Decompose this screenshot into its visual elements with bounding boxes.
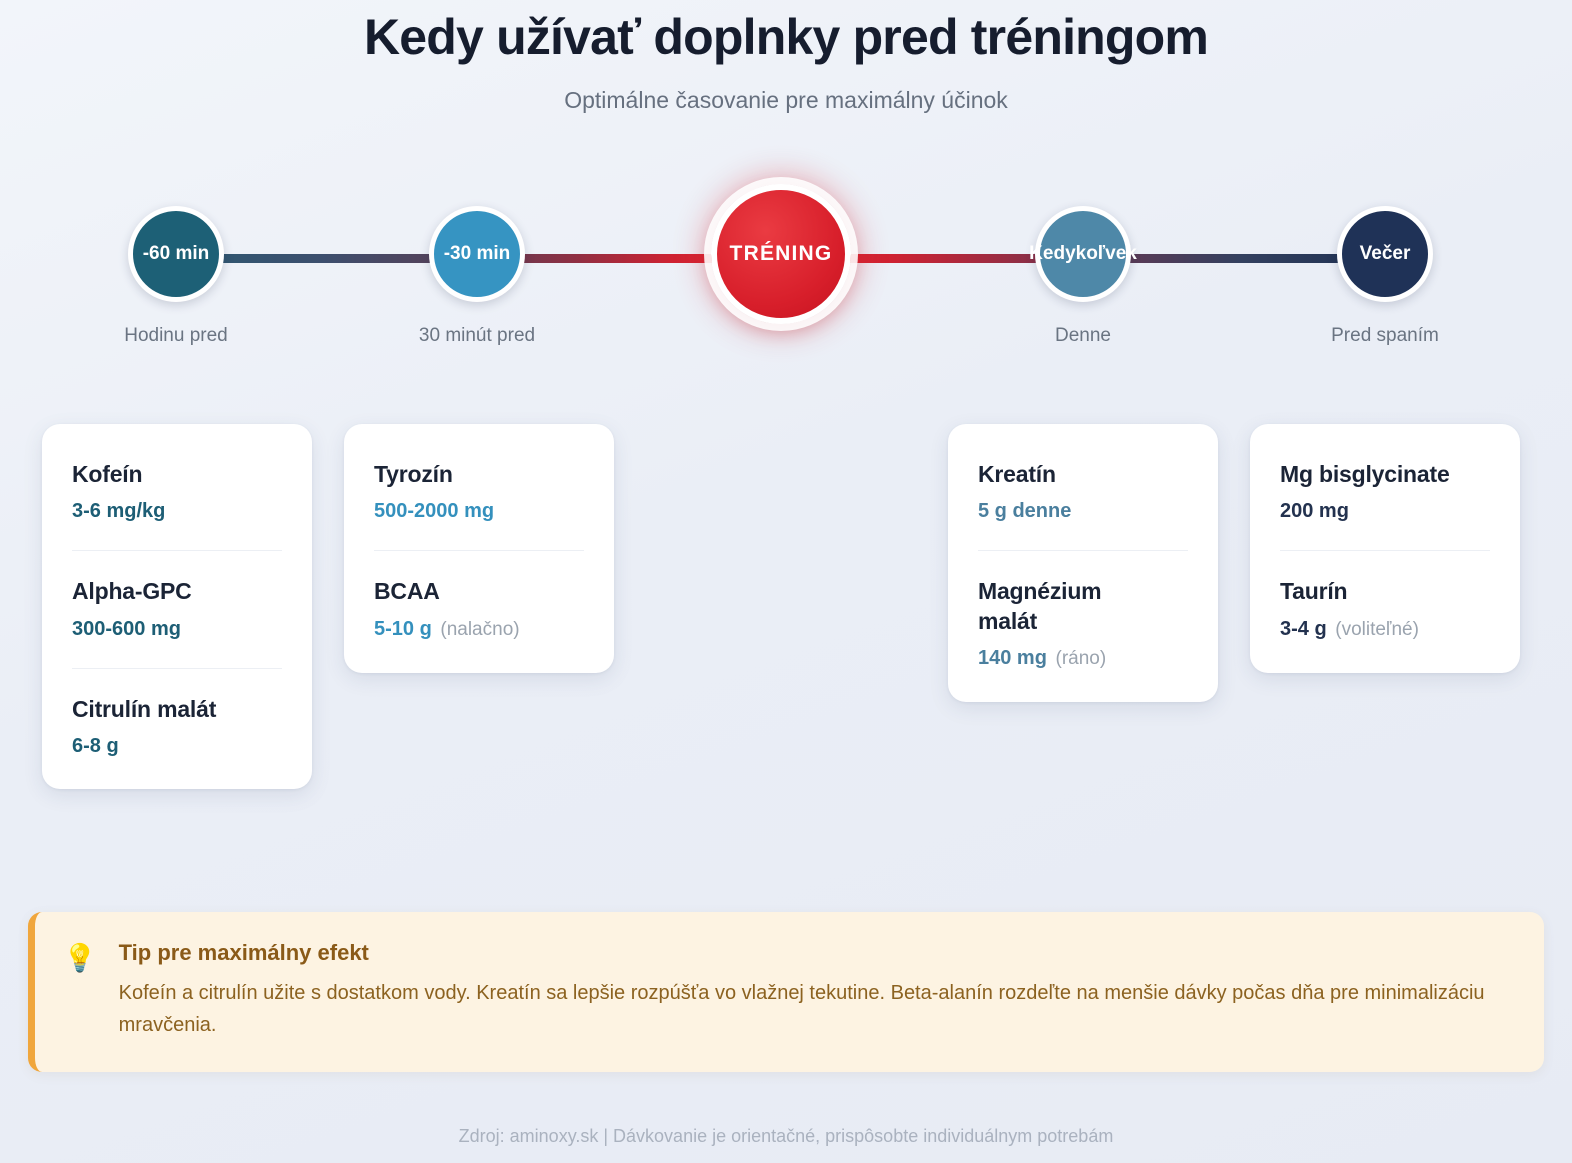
timeline-badge-text: -60 min xyxy=(143,243,210,265)
footer-note: Zdroj: aminoxy.sk | Dávkovanie je orient… xyxy=(0,1126,1572,1147)
supplement-item: Mg bisglycinate 200 mg xyxy=(1280,460,1490,524)
timeline-node-label: Hodinu pred xyxy=(71,325,281,347)
supplement-dose-note: (nalačno) xyxy=(440,619,519,640)
supplement-name: BCAA xyxy=(374,577,584,606)
supplement-dose-value: 200 mg xyxy=(1280,500,1349,522)
timeline-badge: Večer xyxy=(1337,206,1433,302)
timeline-badge: -30 min xyxy=(429,206,525,302)
supplement-item: Kreatín 5 g denne xyxy=(978,460,1188,524)
tip-box: 💡 Tip pre maximálny efekt Kofeín a citru… xyxy=(28,912,1544,1072)
supplement-item: Kofeín 3-6 mg/kg xyxy=(72,460,282,524)
tip-text: Kofeín a citrulín užite s dostatkom vody… xyxy=(119,977,1509,1042)
timeline-badge: Kedykoľvek xyxy=(1035,206,1131,302)
supplement-item: BCAA 5-10 g (nalačno) xyxy=(374,550,584,642)
timeline-badge-text: TRÉNING xyxy=(730,242,833,266)
supplement-cards: Kofeín 3-6 mg/kg Alpha-GPC 300-600 mg Ci… xyxy=(0,424,1572,824)
tip-body: Tip pre maximálny efekt Kofeín a citrulí… xyxy=(119,940,1510,1042)
timeline-badge: -60 min xyxy=(128,206,224,302)
supplement-card-hodinu-pred: Kofeín 3-6 mg/kg Alpha-GPC 300-600 mg Ci… xyxy=(42,424,312,789)
lightbulb-icon: 💡 xyxy=(63,940,97,1042)
supplement-name: Alpha-GPC xyxy=(72,577,282,606)
supplement-name: Taurín xyxy=(1280,577,1490,606)
supplement-card-denne: Kreatín 5 g denne Magnézium malát 140 mg… xyxy=(948,424,1218,702)
supplement-item: Tyrozín 500-2000 mg xyxy=(374,460,584,524)
supplement-name: Magnézium malát xyxy=(978,577,1128,636)
timeline-badge-training: TRÉNING xyxy=(711,184,851,324)
supplement-dose-value: 5 g denne xyxy=(978,500,1071,522)
supplement-dose: 200 mg xyxy=(1280,498,1490,524)
supplement-dose-value: 140 mg xyxy=(978,647,1047,669)
supplement-name: Kofeín xyxy=(72,460,282,489)
supplement-dose-value: 6-8 g xyxy=(72,735,119,757)
timeline: -60 min Hodinu pred -30 min 30 minút pre… xyxy=(0,206,1572,386)
supplement-item: Taurín 3-4 g (voliteľné) xyxy=(1280,550,1490,642)
supplement-dose: 140 mg (ráno) xyxy=(978,645,1188,672)
supplement-item: Alpha-GPC 300-600 mg xyxy=(72,550,282,641)
timeline-node-label: 30 minút pred xyxy=(372,325,582,347)
supplement-item: Citrulín malát 6-8 g xyxy=(72,668,282,759)
timeline-badge-text: Kedykoľvek xyxy=(1029,243,1137,265)
supplement-dose-value: 3-4 g xyxy=(1280,618,1327,640)
infographic-page: Kedy užívať doplnky pred tréningom Optim… xyxy=(0,0,1572,1163)
supplement-dose-note: (ráno) xyxy=(1056,648,1107,669)
page-title: Kedy užívať doplnky pred tréningom xyxy=(0,8,1572,67)
supplement-dose-value: 500-2000 mg xyxy=(374,500,494,522)
timeline-node-training[interactable]: TRÉNING xyxy=(676,184,886,347)
timeline-node-evening[interactable]: Večer Pred spaním xyxy=(1280,206,1490,347)
supplement-card-pred-spanim: Mg bisglycinate 200 mg Taurín 3-4 g (vol… xyxy=(1250,424,1520,673)
page-subtitle: Optimálne časovanie pre maximálny účinok xyxy=(0,87,1572,114)
tip-title: Tip pre maximálny efekt xyxy=(119,940,1510,966)
timeline-badge-text: -30 min xyxy=(444,243,511,265)
supplement-dose-value: 3-6 mg/kg xyxy=(72,500,165,522)
timeline-node-minus-30[interactable]: -30 min 30 minút pred xyxy=(372,206,582,347)
supplement-dose-note: (voliteľné) xyxy=(1335,619,1419,640)
timeline-node-minus-60[interactable]: -60 min Hodinu pred xyxy=(71,206,281,347)
supplement-name: Citrulín malát xyxy=(72,695,282,724)
timeline-badge-text: Večer xyxy=(1360,243,1411,265)
header: Kedy užívať doplnky pred tréningom Optim… xyxy=(0,0,1572,114)
timeline-node-label: Denne xyxy=(978,325,1188,347)
supplement-dose: 3-4 g (voliteľné) xyxy=(1280,616,1490,643)
supplement-dose: 300-600 mg xyxy=(72,616,282,642)
supplement-name: Tyrozín xyxy=(374,460,584,489)
supplement-dose-value: 5-10 g xyxy=(374,618,432,640)
timeline-node-label: Pred spaním xyxy=(1280,325,1490,347)
supplement-dose: 6-8 g xyxy=(72,733,282,759)
supplement-dose: 5-10 g (nalačno) xyxy=(374,616,584,643)
supplement-dose-value: 300-600 mg xyxy=(72,618,181,640)
timeline-node-anytime[interactable]: Kedykoľvek Denne xyxy=(978,206,1188,347)
supplement-item: Magnézium malát 140 mg (ráno) xyxy=(978,550,1188,672)
supplement-name: Kreatín xyxy=(978,460,1188,489)
timeline-nodes: -60 min Hodinu pred -30 min 30 minút pre… xyxy=(0,206,1572,386)
supplement-card-30-minut-pred: Tyrozín 500-2000 mg BCAA 5-10 g (nalačno… xyxy=(344,424,614,673)
supplement-dose: 3-6 mg/kg xyxy=(72,498,282,524)
supplement-dose: 500-2000 mg xyxy=(374,498,584,524)
supplement-dose: 5 g denne xyxy=(978,498,1188,524)
supplement-name: Mg bisglycinate xyxy=(1280,460,1490,489)
